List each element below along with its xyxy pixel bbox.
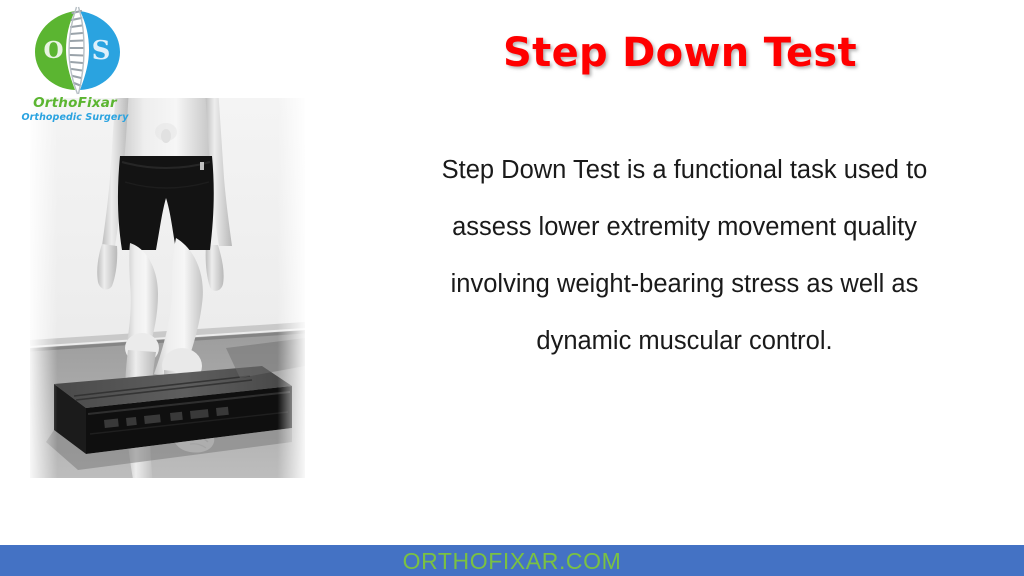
logo-letter-o: O xyxy=(43,37,63,64)
description-line-4: dynamic muscular control. xyxy=(372,313,997,370)
footer-website-label: ORTHOFIXAR.COM xyxy=(0,546,1024,576)
logo-wordmark: OrthoFixar xyxy=(14,96,136,111)
brand-logo: O S OrthoFixar Orthopedic Surgery xyxy=(14,4,136,132)
step-down-test-photo xyxy=(30,98,305,478)
page-title: Step Down Test xyxy=(360,30,1000,76)
slide-canvas: O S OrthoFixar Orthopedic Surgery xyxy=(0,0,1024,576)
description-line-3: involving weight-bearing stress as well … xyxy=(372,256,997,313)
logo-letter-s: S xyxy=(92,36,111,66)
description-paragraph: Step Down Test is a functional task used… xyxy=(372,142,997,370)
orthofixar-leaf-spine-logo-icon: O S xyxy=(28,4,124,96)
logo-subwordmark: Orthopedic Surgery xyxy=(14,112,136,123)
description-line-1: Step Down Test is a functional task used… xyxy=(372,142,997,199)
description-line-2: assess lower extremity movement quality xyxy=(372,199,997,256)
step-down-test-illustration xyxy=(30,98,305,478)
